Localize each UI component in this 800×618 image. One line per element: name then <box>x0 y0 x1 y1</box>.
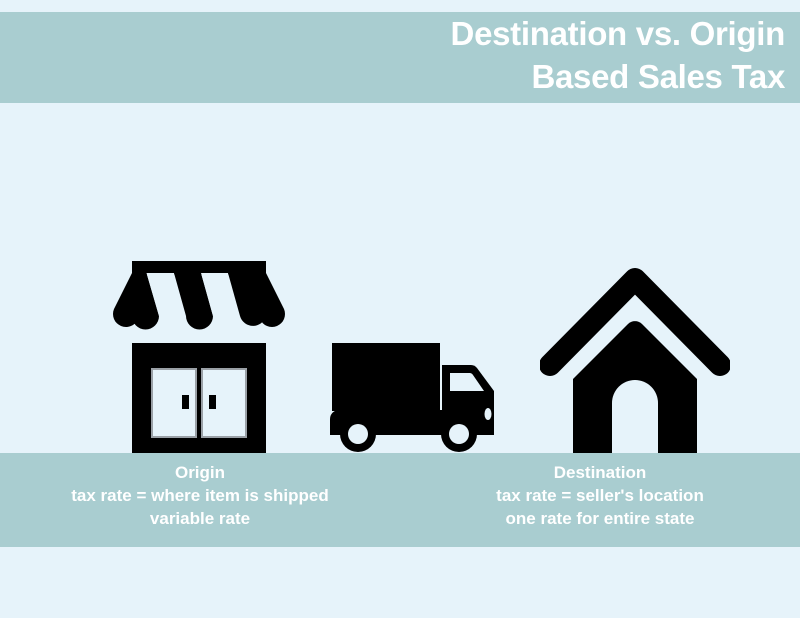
caption-origin-heading: Origin <box>0 461 400 484</box>
caption-destination-line-1: tax rate = seller's location <box>400 484 800 507</box>
caption-origin-line-1: tax rate = where item is shipped <box>0 484 400 507</box>
page-title: Destination vs. Origin Based Sales Tax <box>185 12 785 98</box>
title-line-2: Based Sales Tax <box>185 55 785 98</box>
icon-stage <box>0 103 800 453</box>
storefront-icon <box>108 261 290 453</box>
delivery-truck-icon <box>328 341 508 453</box>
house-icon <box>540 261 730 453</box>
infographic-canvas: Destination vs. Origin Based Sales Tax <box>0 0 800 618</box>
title-line-1: Destination vs. Origin <box>185 12 785 55</box>
caption-origin-line-2: variable rate <box>0 507 400 530</box>
caption-destination: Destination tax rate = seller's location… <box>400 461 800 530</box>
caption-destination-heading: Destination <box>400 461 800 484</box>
caption-origin: Origin tax rate = where item is shipped … <box>0 461 400 530</box>
caption-destination-line-2: one rate for entire state <box>400 507 800 530</box>
